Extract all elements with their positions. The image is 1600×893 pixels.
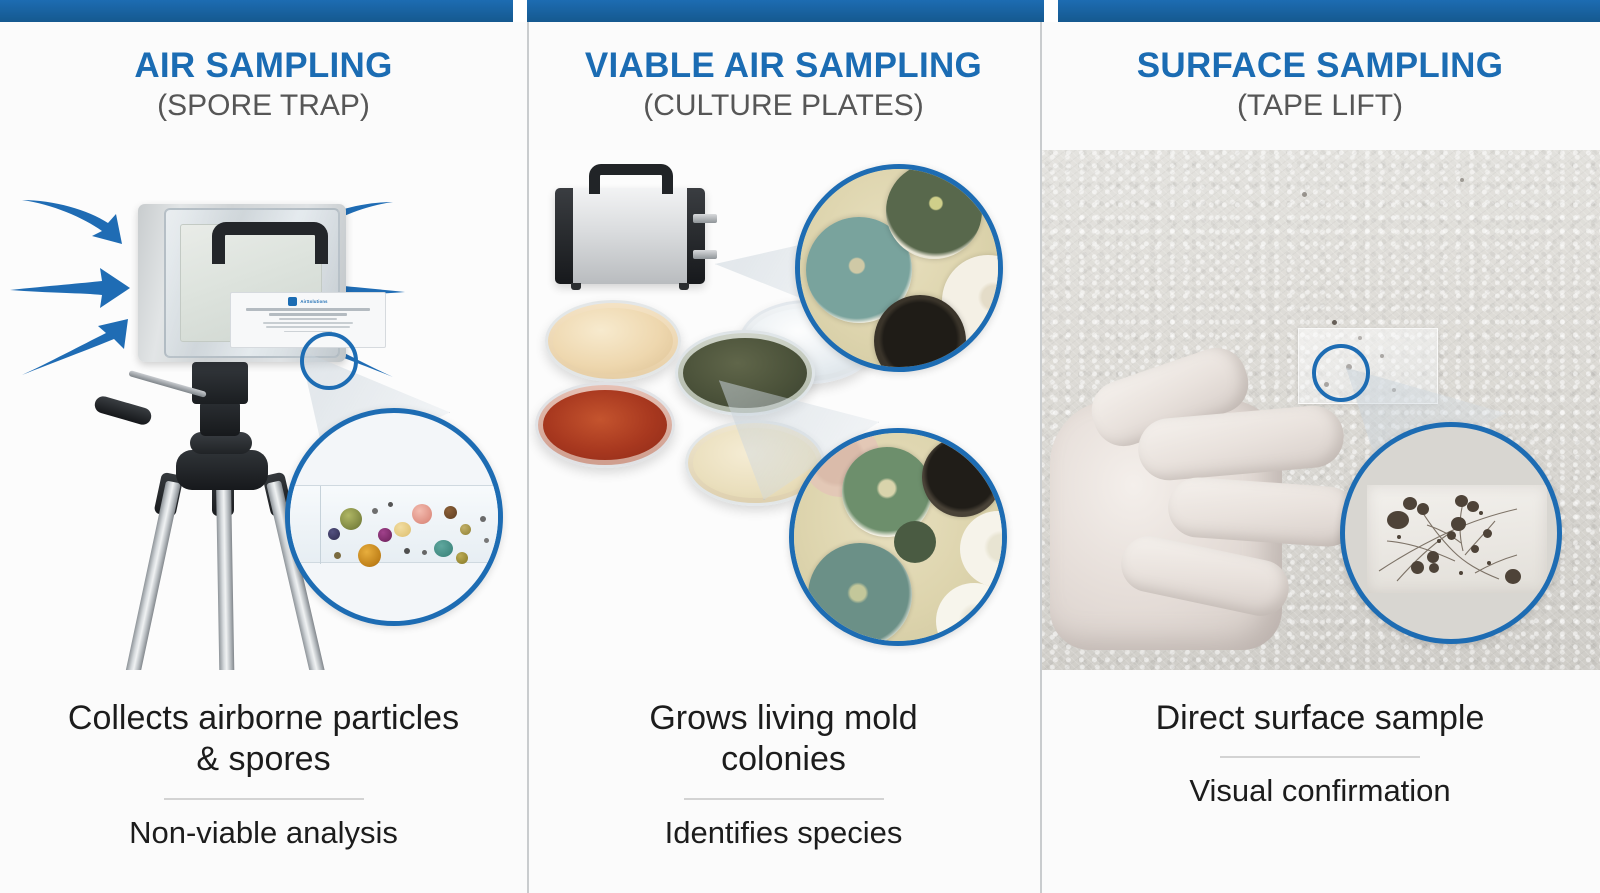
panel-divider-1 bbox=[527, 22, 529, 893]
spore-particle bbox=[434, 540, 453, 557]
mold-clump bbox=[1403, 497, 1417, 510]
panel-3-heading: SURFACE SAMPLING (TAPE LIFT) bbox=[1040, 22, 1600, 150]
cassette-label-brand: AirSolutions bbox=[300, 299, 327, 304]
panel-2-caption-secondary: Identifies species bbox=[665, 814, 903, 851]
impactor-air-pump bbox=[555, 188, 705, 284]
mold-clump bbox=[1429, 563, 1439, 573]
label-text-line bbox=[263, 322, 352, 324]
pump-end-cap-right bbox=[687, 188, 705, 284]
panel-2-magnifier-top bbox=[795, 164, 1003, 372]
top-accent-segment-1 bbox=[0, 0, 513, 22]
cassette-handle bbox=[212, 222, 328, 264]
spore-particle bbox=[460, 524, 471, 535]
pump-foot bbox=[571, 283, 581, 290]
spore-trap-slide bbox=[285, 485, 503, 563]
mold-speck bbox=[1397, 535, 1401, 539]
agar-surface bbox=[543, 390, 667, 460]
top-accent-gap-1 bbox=[513, 0, 527, 22]
mold-speck bbox=[1437, 539, 1441, 543]
tripod-leg-1 bbox=[125, 480, 181, 670]
panel-1-image: AirSolutions bbox=[0, 150, 527, 670]
tripod-head bbox=[192, 362, 248, 404]
spore-particle bbox=[394, 522, 411, 537]
spore-particle bbox=[328, 528, 340, 540]
wall-mold-speck bbox=[1302, 192, 1307, 197]
tripod-yoke bbox=[176, 450, 268, 490]
panel-3-caption-primary: Direct surface sample bbox=[1156, 698, 1485, 739]
panel-3-caption-rule bbox=[1220, 756, 1420, 758]
spore-particle bbox=[404, 548, 410, 554]
panel-3-caption-secondary: Visual confirmation bbox=[1189, 772, 1450, 809]
agar-surface bbox=[553, 308, 673, 374]
label-text-line bbox=[279, 318, 337, 320]
pump-handle bbox=[589, 164, 673, 194]
top-accent-bar bbox=[0, 0, 1600, 22]
panel-divider-2 bbox=[1040, 22, 1042, 893]
panel-3-subtitle: (TAPE LIFT) bbox=[1237, 89, 1403, 124]
label-text-line bbox=[246, 308, 370, 310]
panel-1-heading: AIR SAMPLING (SPORE TRAP) bbox=[0, 22, 527, 150]
slide-divider bbox=[498, 486, 499, 564]
panel-2-heading: VIABLE AIR SAMPLING (CULTURE PLATES) bbox=[527, 22, 1040, 150]
tripod-neck bbox=[200, 400, 240, 436]
panel-3-caption: Direct surface sample Visual confirmatio… bbox=[1040, 670, 1600, 893]
panel-2-caption-primary: Grows living mold colonies bbox=[584, 698, 984, 781]
panel-2-caption: Grows living mold colonies Identifies sp… bbox=[527, 670, 1040, 893]
wall-mold-speck bbox=[1460, 178, 1464, 182]
label-text-line bbox=[266, 326, 350, 328]
mold-clump bbox=[1427, 551, 1439, 563]
top-accent-segment-2 bbox=[527, 0, 1044, 22]
panel-3-magnifier bbox=[1340, 422, 1562, 644]
pump-port-lower bbox=[693, 250, 717, 259]
spore-particle bbox=[372, 508, 378, 514]
panel-viable-air-sampling: VIABLE AIR SAMPLING (CULTURE PLATES) bbox=[527, 0, 1040, 893]
mold-speck bbox=[1459, 571, 1463, 575]
spore-particle bbox=[388, 502, 393, 507]
mold-clump bbox=[1417, 503, 1429, 515]
panel-3-title: SURFACE SAMPLING bbox=[1137, 48, 1504, 85]
colony-black-sooty bbox=[922, 437, 1002, 517]
wall-mold-speck bbox=[1332, 320, 1337, 325]
label-text-line bbox=[269, 313, 347, 315]
spore-particle bbox=[412, 504, 432, 524]
top-accent-gap-2 bbox=[1044, 0, 1058, 22]
panel-columns: AIR SAMPLING (SPORE TRAP) bbox=[0, 0, 1600, 893]
mold-clump bbox=[1411, 561, 1424, 574]
spore-particle bbox=[358, 544, 381, 567]
mold-clump bbox=[1483, 529, 1492, 538]
pump-end-cap-left bbox=[555, 188, 573, 284]
spore-particle bbox=[456, 552, 468, 564]
colony-teal-green-large bbox=[808, 543, 912, 646]
mold-clump bbox=[1471, 545, 1479, 553]
mold-clump bbox=[1387, 511, 1409, 529]
petri-dish-blood-agar bbox=[535, 382, 675, 468]
panel-1-caption-primary: Collects airborne particles & spores bbox=[64, 698, 464, 781]
panel-2-image bbox=[527, 150, 1040, 670]
colony-small-dark-green bbox=[894, 521, 936, 563]
spore-particle bbox=[484, 538, 489, 543]
panel-1-caption: Collects airborne particles & spores Non… bbox=[0, 670, 527, 893]
panel-2-title: VIABLE AIR SAMPLING bbox=[585, 48, 982, 85]
spore-trap-scene: AirSolutions bbox=[0, 150, 527, 670]
spore-particle bbox=[378, 528, 392, 542]
airflow-arrow-left-middle bbox=[8, 266, 136, 310]
panel-1-subtitle: (SPORE TRAP) bbox=[157, 89, 370, 124]
spore-particle bbox=[480, 516, 486, 522]
slide-divider bbox=[320, 486, 321, 564]
panel-2-caption-rule bbox=[684, 798, 884, 800]
mold-clump bbox=[1505, 569, 1521, 584]
magnified-tape-lift bbox=[1367, 485, 1547, 593]
infographic-root: AIR SAMPLING (SPORE TRAP) bbox=[0, 0, 1600, 893]
petri-dish-tan-agar bbox=[545, 300, 681, 382]
panel-1-title: AIR SAMPLING bbox=[134, 48, 392, 85]
airflow-arrow-left-top bbox=[18, 198, 138, 256]
panel-air-sampling: AIR SAMPLING (SPORE TRAP) bbox=[0, 0, 527, 893]
panel-2-subtitle: (CULTURE PLATES) bbox=[643, 89, 924, 124]
colony-dark-green-aspergillus bbox=[886, 164, 982, 259]
mold-clump bbox=[1467, 501, 1479, 512]
panel-1-callout-marker bbox=[300, 332, 358, 390]
panel-3-image bbox=[1040, 150, 1600, 670]
spore-particle bbox=[334, 552, 341, 559]
cassette-label-brand-row: AirSolutions bbox=[236, 297, 380, 306]
top-accent-segment-3 bbox=[1058, 0, 1600, 22]
brand-logo-icon bbox=[288, 297, 297, 306]
spore-particle bbox=[340, 508, 362, 530]
spore-particle bbox=[444, 506, 457, 519]
spore-particle bbox=[422, 550, 427, 555]
mold-speck bbox=[1487, 561, 1491, 565]
panel-surface-sampling: SURFACE SAMPLING (TAPE LIFT) bbox=[1040, 0, 1600, 893]
tripod-pan-handle-grip bbox=[93, 394, 153, 426]
pump-port-upper bbox=[693, 214, 717, 223]
mold-clump bbox=[1447, 531, 1456, 540]
panel-2-magnifier-bottom bbox=[789, 428, 1007, 646]
panel-1-caption-rule bbox=[164, 798, 364, 800]
panel-1-caption-secondary: Non-viable analysis bbox=[129, 814, 398, 851]
panel-1-magnifier bbox=[285, 408, 503, 626]
panel-3-callout-marker bbox=[1312, 344, 1370, 402]
mold-clump bbox=[1451, 517, 1466, 531]
mold-speck bbox=[1479, 511, 1483, 515]
pump-foot bbox=[679, 283, 689, 290]
